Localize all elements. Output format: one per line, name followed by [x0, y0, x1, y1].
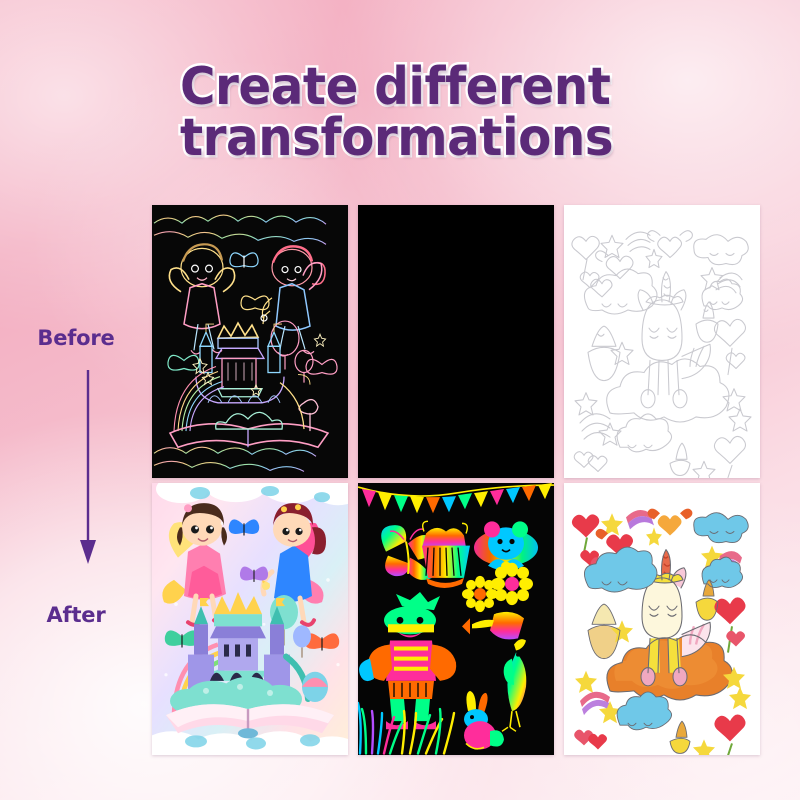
- label-before: Before: [0, 326, 152, 350]
- panel-before-blank-board[interactable]: [358, 205, 554, 478]
- page-title: Create different transformations: [180, 62, 701, 164]
- panel-after-neon-scratch[interactable]: [358, 483, 554, 756]
- panel-after-unicorn-colored[interactable]: [564, 483, 760, 756]
- panel-before-unicorn-outline[interactable]: [564, 205, 760, 478]
- down-arrow-icon: [62, 368, 114, 568]
- comparison-grid: [152, 205, 760, 755]
- stage-labels: Before After: [0, 0, 152, 800]
- panel-before-fairy-scratch[interactable]: [152, 205, 348, 478]
- panel-after-fairy-colored[interactable]: [152, 483, 348, 756]
- label-after: After: [0, 603, 152, 627]
